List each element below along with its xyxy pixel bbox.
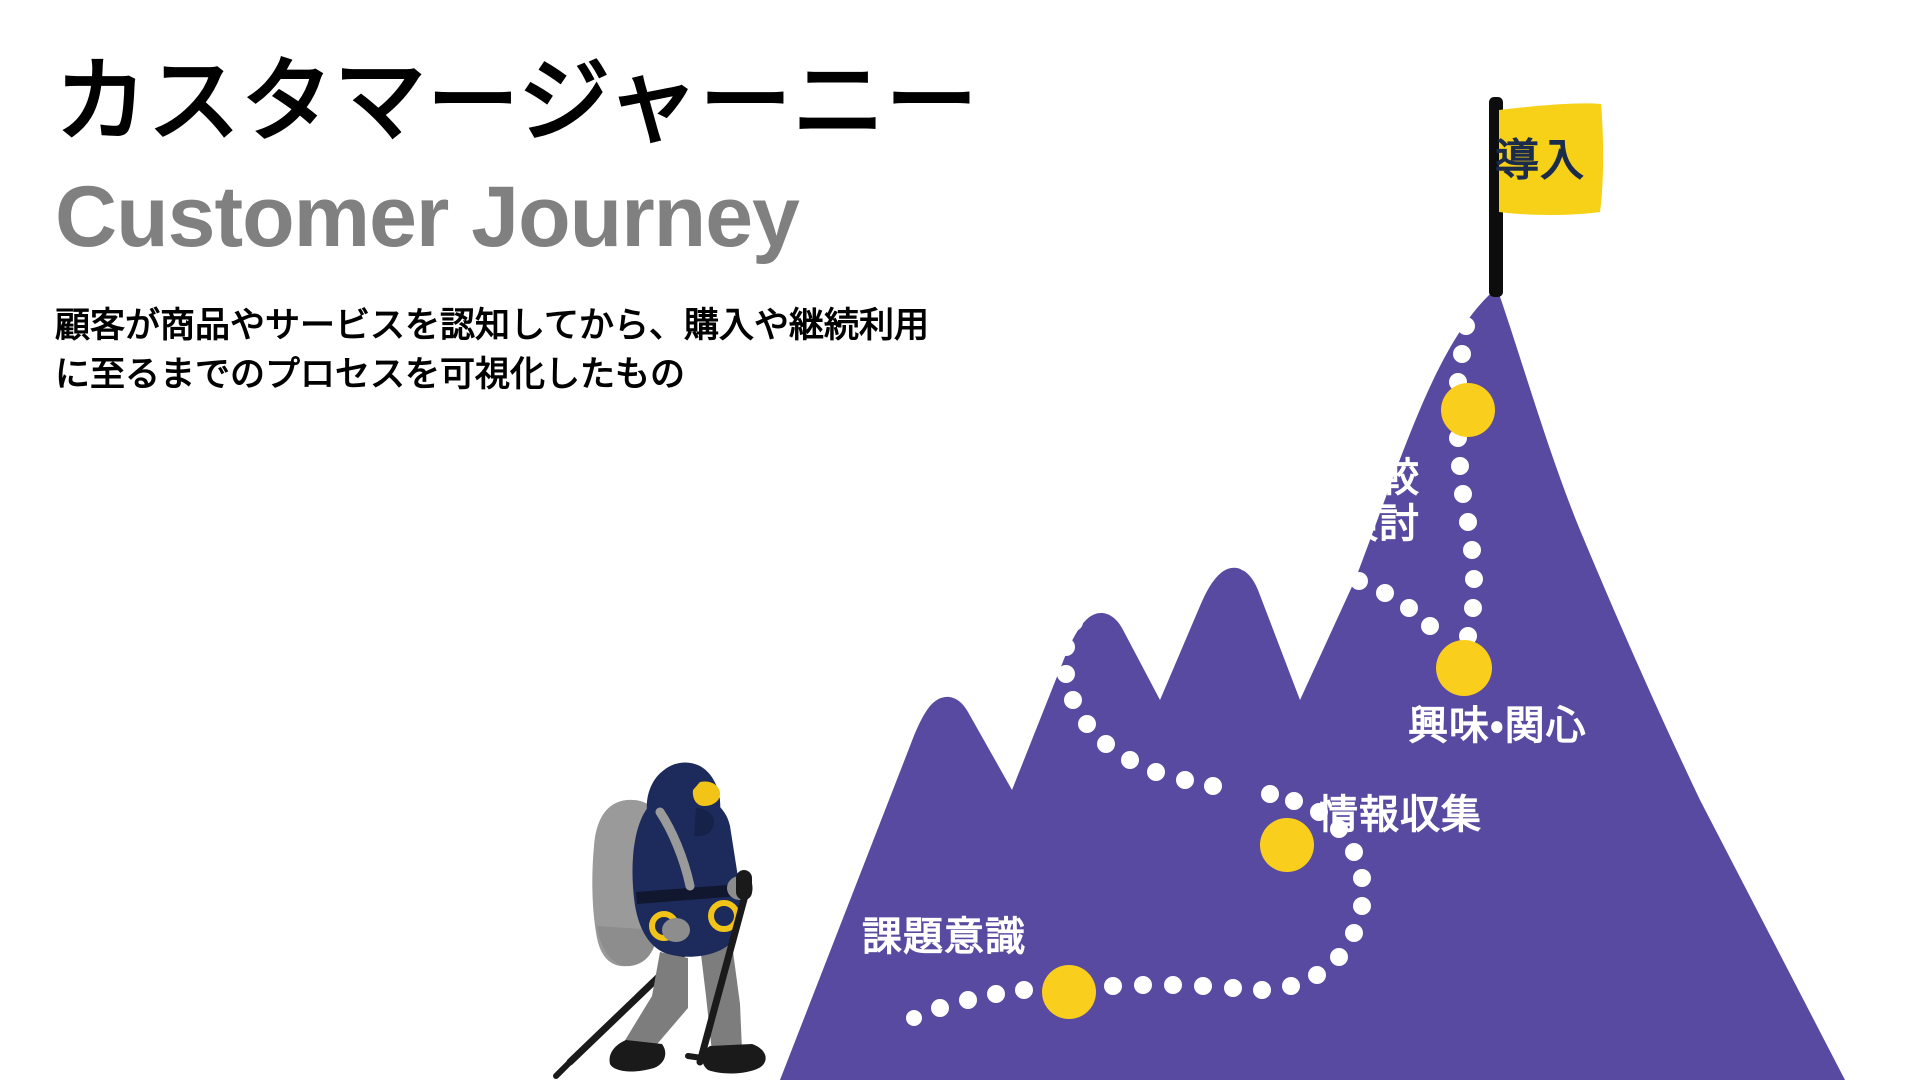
stage-marker-icon[interactable]	[1042, 965, 1096, 1019]
description-line-2: に至るまでのプロセスを可視化したもの	[55, 351, 1145, 401]
page-title-english: Customer Journey	[55, 169, 1205, 265]
title-block: カスタマージャーニー Customer Journey 顧客が商品やサービスを認…	[55, 52, 1205, 401]
stage-marker-icon[interactable]	[1436, 640, 1492, 696]
mountain-icon	[780, 288, 1845, 1080]
stage-label-jouhou-shuushuu: 情報収集	[1318, 792, 1482, 838]
description-line-1: 顧客が商品やサービスを認知してから、購入や継続利用	[55, 302, 1145, 352]
stage-label-hikaku-kentou: 比較 検討	[1338, 455, 1420, 547]
flag-label-donyu: 導入	[1495, 124, 1585, 188]
slide-canvas: カスタマージャーニー Customer Journey 顧客が商品やサービスを認…	[0, 0, 1920, 1080]
hiker-icon	[556, 763, 766, 1076]
stage-label-kyoumi-kanshin: 興味・関心	[1408, 703, 1587, 749]
stage-marker-icon[interactable]	[1260, 818, 1314, 872]
page-title-japanese: カスタマージャーニー	[55, 52, 1205, 151]
stage-marker-icon[interactable]	[1441, 383, 1495, 437]
stage-label-kadai-ishiki: 課題意識	[862, 914, 1026, 960]
page-description: 顧客が商品やサービスを認知してから、購入や継続利用 に至るまでのプロセスを可視化…	[55, 302, 1145, 401]
